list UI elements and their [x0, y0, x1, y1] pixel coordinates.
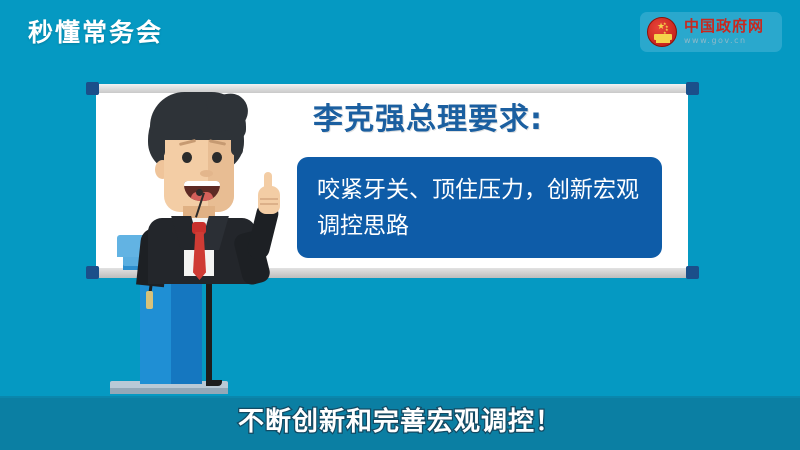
quote-callout-box: 咬紧牙关、顶住压力，创新宏观调控思路: [297, 157, 662, 258]
gov-website-badge[interactable]: ★ ★ ★ ★ ★ 中国政府网 www.gov.cn: [640, 12, 782, 52]
quote-text: 咬紧牙关、顶住压力，创新宏观调控思路: [317, 172, 644, 244]
badge-url: www.gov.cn: [684, 37, 764, 45]
board-heading: 李克强总理要求:: [313, 101, 543, 139]
whiteboard-cap-bottom-left: [86, 266, 99, 279]
video-subtitle: 不断创新和完善宏观调控！: [0, 406, 800, 438]
podium-desk-shade: [171, 235, 225, 257]
whiteboard-top-rail: [92, 84, 692, 93]
badge-title: 中国政府网: [684, 19, 764, 34]
podium-column-shade: [171, 262, 202, 384]
podium-base-shadow: [110, 388, 228, 394]
whiteboard-cap-bottom-right: [686, 266, 699, 279]
microphone-stand-pole: [206, 262, 212, 386]
microphone-stand-foot: [206, 380, 222, 386]
emblem-tiananmen-gate: [654, 34, 672, 40]
china-national-emblem-icon: ★ ★ ★ ★ ★: [647, 17, 677, 47]
whiteboard-cap-top-right: [686, 82, 699, 95]
badge-text-group: 中国政府网 www.gov.cn: [684, 19, 764, 45]
video-frame: 秒懂常务会 ★ ★ ★ ★ ★ 中国政府网 www.gov.cn 李克强总理要求…: [0, 0, 800, 450]
whiteboard-cap-top-left: [86, 82, 99, 95]
podium-key-icon: [146, 291, 153, 309]
program-logo: 秒懂常务会: [28, 18, 163, 48]
